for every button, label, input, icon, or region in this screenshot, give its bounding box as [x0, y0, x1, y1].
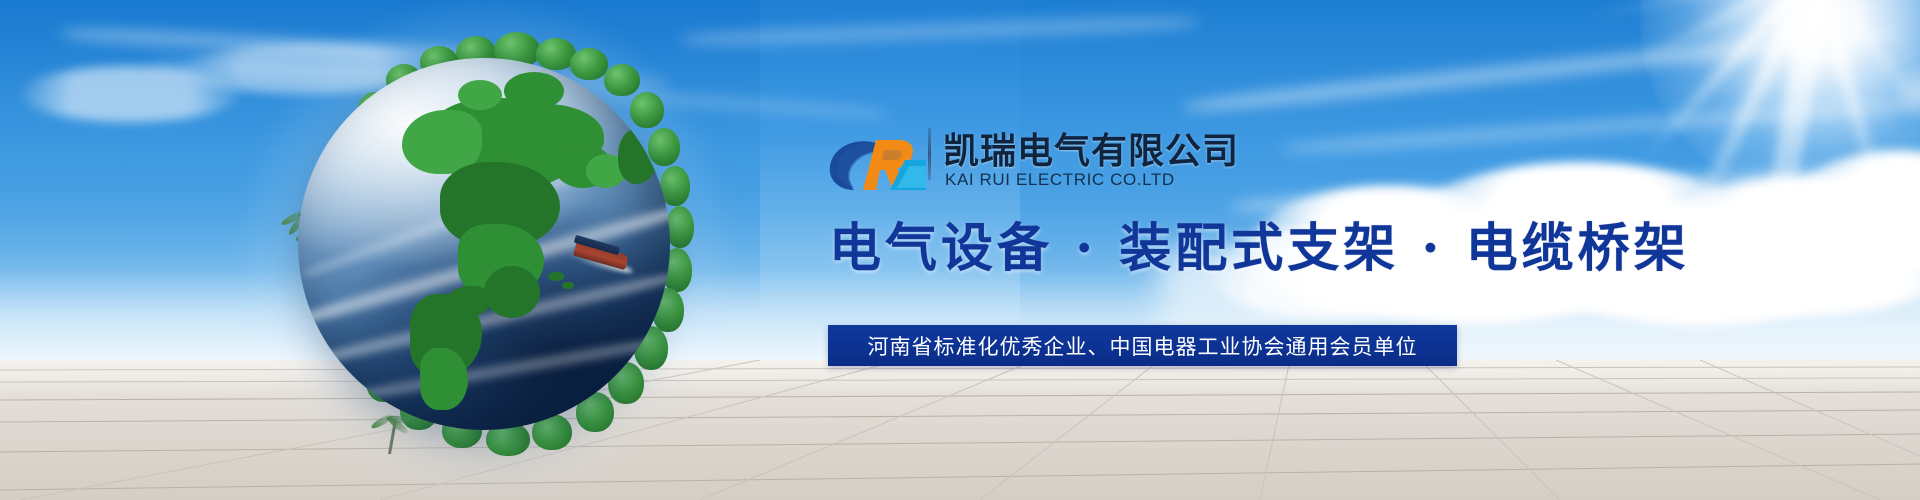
credentials-badge-text: 河南省标准化优秀企业、中国电器工业协会通用会员单位: [868, 331, 1418, 361]
credentials-badge: 河南省标准化优秀企业、中国电器工业协会通用会员单位: [828, 325, 1457, 366]
company-name-cn: 凯瑞电气有限公司: [943, 122, 1239, 174]
kairui-cr-logo-icon: [827, 130, 927, 192]
headline-slogan: 电气设备 · 装配式支架 · 电缆桥架: [829, 206, 1690, 281]
logo-divider: [928, 128, 931, 180]
green-earth-globe: [270, 30, 700, 460]
globe-sphere: [298, 58, 670, 430]
promo-banner: 凯瑞电气有限公司 KAI RUI ELECTRIC CO.LTD 电气设备 · …: [0, 0, 1920, 500]
company-name-en: KAI RUI ELECTRIC CO.LTD: [945, 170, 1175, 190]
brand-text-block: 凯瑞电气有限公司 KAI RUI ELECTRIC CO.LTD 电气设备 · …: [827, 118, 1527, 368]
